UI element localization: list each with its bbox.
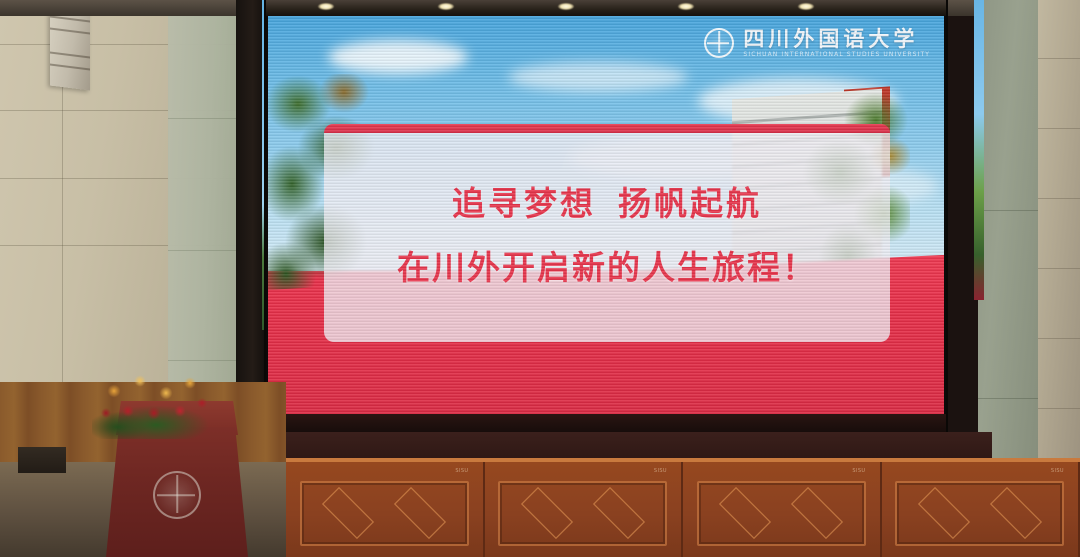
screen-bottom-frame xyxy=(266,414,946,432)
globe-emblem-icon xyxy=(704,28,734,58)
ceiling-spotlight xyxy=(678,3,694,10)
diamond-carving xyxy=(521,487,573,539)
stage-front-panel: SISU xyxy=(485,462,684,557)
diamond-carving xyxy=(990,487,1042,539)
diamond-carving xyxy=(593,487,645,539)
right-green-panel xyxy=(978,0,1038,470)
floral-arrangement xyxy=(92,367,232,439)
university-name-en: SICHUAN INTERNATIONAL STUDIES UNIVERSITY xyxy=(743,52,930,58)
stage-front: SISU SISU SISU SISU xyxy=(286,458,1080,557)
ceiling-spotlight xyxy=(798,3,814,10)
university-logo: 四川外国语大学 SICHUAN INTERNATIONAL STUDIES UN… xyxy=(704,28,930,58)
ceiling-spotlight xyxy=(438,3,454,10)
slogan-line-1a: 追寻梦想 xyxy=(452,184,596,223)
screen-top-hood xyxy=(266,0,946,16)
cloud xyxy=(328,40,468,74)
stage-front-panel: SISU xyxy=(882,462,1080,557)
stage-front-panel: SISU xyxy=(286,462,485,557)
led-screen: 追寻梦想扬帆起航 在川外开启新的人生旅程！ 四川外国语大学 SICHUAN IN… xyxy=(266,0,946,432)
diamond-carving xyxy=(719,487,771,539)
diamond-carving xyxy=(394,487,446,539)
floor-box xyxy=(18,447,66,473)
university-globe-emblem-icon xyxy=(153,471,201,519)
slogan-line-1: 追寻梦想扬帆起航 xyxy=(452,177,762,225)
slogan-line-1b: 扬帆起航 xyxy=(618,184,762,223)
slogan-line-2: 在川外开启新的人生旅程！ xyxy=(397,241,817,289)
diamond-carving xyxy=(322,487,374,539)
podium-area xyxy=(84,367,284,557)
cloud xyxy=(508,62,688,92)
diamond-carving xyxy=(791,487,843,539)
stage-front-panel: SISU xyxy=(683,462,882,557)
university-name-cn: 四川外国语大学 xyxy=(743,28,930,49)
ceiling-spotlight xyxy=(318,3,334,10)
ceiling-spotlight xyxy=(558,3,574,10)
led-display-surface: 追寻梦想扬帆起航 在川外开启新的人生旅程！ 四川外国语大学 SICHUAN IN… xyxy=(268,16,944,414)
auditorium-scene: 追寻梦想扬帆起航 在川外开启新的人生旅程！ 四川外国语大学 SICHUAN IN… xyxy=(0,0,1080,557)
slogan-banner-card: 追寻梦想扬帆起航 在川外开启新的人生旅程！ xyxy=(324,124,890,342)
right-window-sliver xyxy=(974,0,984,300)
diamond-carving xyxy=(918,487,970,539)
podium xyxy=(106,427,248,557)
